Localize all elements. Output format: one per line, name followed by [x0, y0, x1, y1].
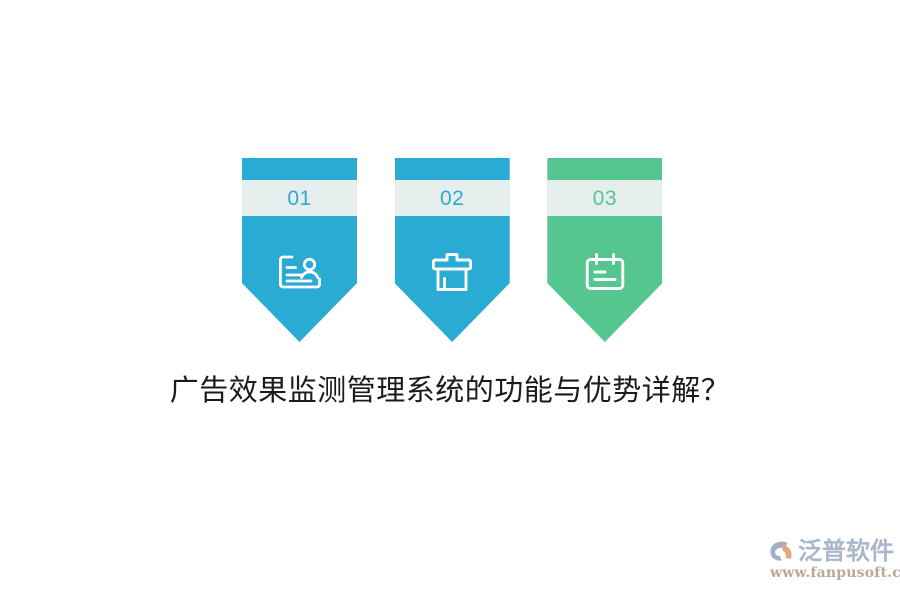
banner-item-01[interactable]: 01 [242, 158, 357, 342]
poster-canvas: 01 02 [0, 0, 900, 600]
fanpu-c-mark-icon [766, 536, 796, 566]
banner-number-band-01: 01 [242, 180, 357, 216]
banner-number-band-02: 02 [395, 180, 510, 216]
calendar-notes-icon [547, 246, 662, 298]
brand-watermark[interactable]: 泛普软件 www.fanpusoft.com [766, 535, 896, 587]
banner-item-03[interactable]: 03 [547, 158, 662, 342]
storefront-icon [395, 246, 510, 298]
banner-item-02[interactable]: 02 [395, 158, 510, 342]
banner-number-band-03: 03 [547, 180, 662, 216]
page-title: 广告效果监测管理系统的功能与优势详解？ [0, 372, 900, 408]
banner-number-label-02: 02 [440, 188, 464, 209]
brand-name: 泛普软件 [798, 536, 894, 566]
brand-logo-row: 泛普软件 [766, 535, 896, 567]
banner-number-label-03: 03 [593, 188, 617, 209]
banner-number-label-01: 01 [287, 188, 311, 209]
banner-group: 01 02 [242, 158, 662, 348]
brand-url: www.fanpusoft.com [770, 565, 896, 581]
id-card-person-icon [242, 246, 357, 298]
